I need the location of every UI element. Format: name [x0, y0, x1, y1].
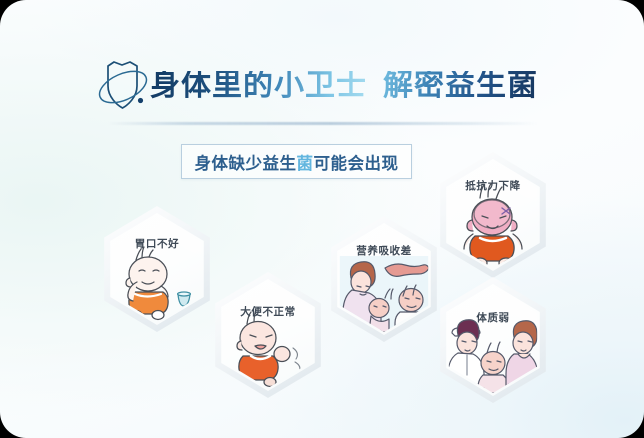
hexagon-weak[interactable]: 体质弱 — [432, 277, 554, 403]
hexagon-appetite[interactable]: 胃口不好 — [96, 206, 218, 332]
poster-card: 身体里的小卫士 解密益生菌 身体缺少益生菌可能会出现 — [0, 0, 644, 438]
subtitle-text: 身体缺少益生菌可能会出现 — [195, 150, 399, 174]
subtitle-banner: 身体缺少益生菌可能会出现 — [181, 144, 412, 179]
page-title-part1: 身体里的小卫士 — [150, 71, 367, 101]
subtitle-prefix: 身体缺少益生 — [195, 155, 297, 173]
subtitle-highlight: 菌 — [297, 155, 314, 173]
hexagon-label-stool: 大便不正常 — [217, 304, 319, 319]
subtitle-suffix: 可能会出现 — [314, 155, 399, 173]
hexagon-label-appetite: 胃口不好 — [106, 236, 208, 251]
page-title: 身体里的小卫士 解密益生菌 — [150, 58, 550, 114]
hexagon-immunity[interactable]: 抵抗力下降 — [432, 152, 554, 278]
hexagon-absorption[interactable]: 营养吸收差 — [323, 216, 445, 342]
page-title-part2: 解密益生菌 — [383, 71, 538, 101]
hexagon-label-weak: 体质弱 — [442, 310, 544, 325]
header-divider — [108, 122, 538, 125]
poster-header: 身体里的小卫士 解密益生菌 — [0, 26, 644, 94]
hexagon-stool[interactable]: 大便不正常 — [207, 272, 329, 398]
